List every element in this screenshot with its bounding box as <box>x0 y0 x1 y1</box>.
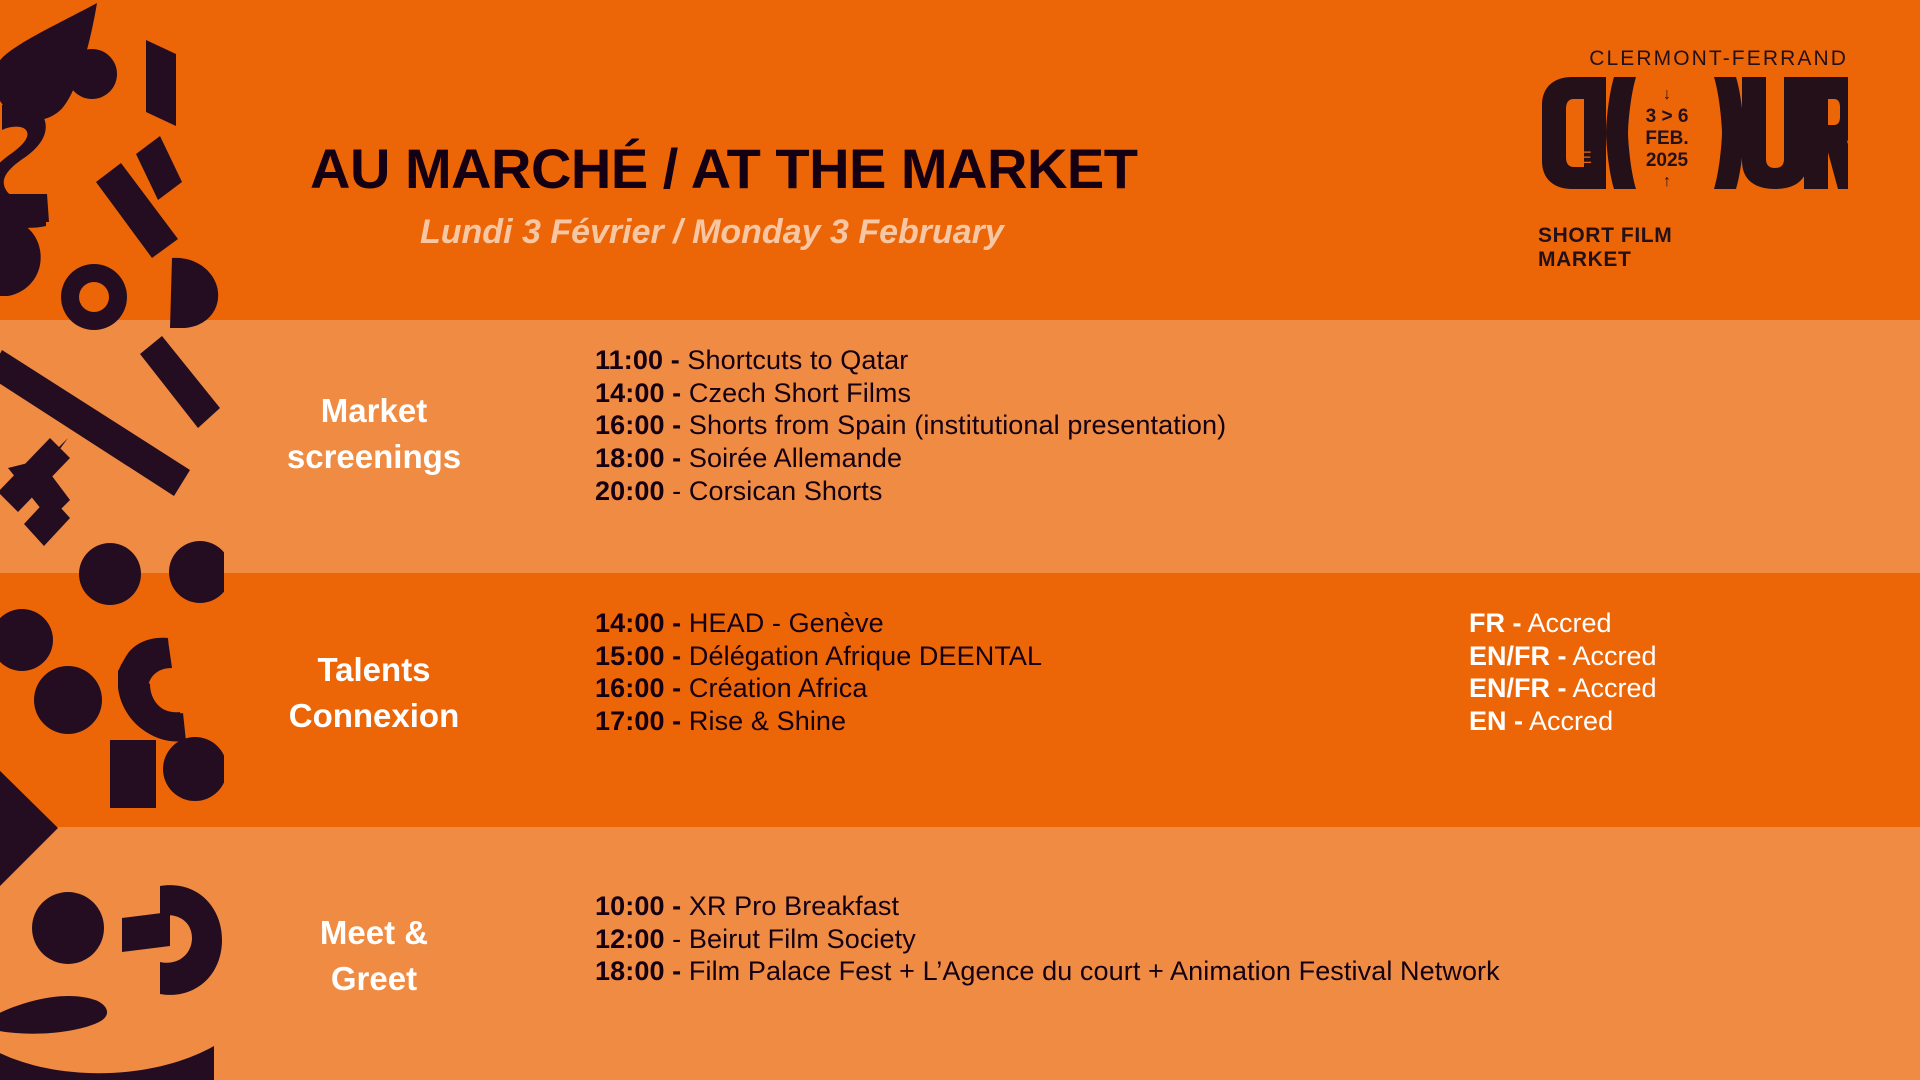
accreditation-row: EN/FR - Accred <box>1469 640 1657 673</box>
svg-text:FEB.: FEB. <box>1645 128 1688 149</box>
page-title: AU MARCHÉ / AT THE MARKET <box>310 140 1460 199</box>
item-separator: - <box>672 443 681 473</box>
accreditation-language: EN/FR <box>1469 673 1550 703</box>
item-separator: - <box>672 641 681 671</box>
schedule-item: 16:00 - Shorts from Spain (institutional… <box>595 409 1920 442</box>
item-description: XR Pro Breakfast <box>689 891 899 921</box>
section-label-line1: Meet & <box>224 910 524 956</box>
item-description: Czech Short Films <box>689 378 911 408</box>
accreditation-value: Accred <box>1573 641 1657 671</box>
item-description: Film Palace Fest + L’Agence du court + A… <box>689 956 1500 986</box>
item-separator: - <box>672 673 681 703</box>
item-separator: - <box>672 956 681 986</box>
accreditation-column: FR - Accred EN/FR - Accred EN/FR - Accre… <box>1469 607 1657 738</box>
accreditation-separator: - <box>1513 608 1522 638</box>
item-separator: - <box>672 706 681 736</box>
item-separator: - <box>672 476 681 506</box>
svg-text:3 > 6: 3 > 6 <box>1646 106 1689 127</box>
accreditation-separator: - <box>1558 673 1567 703</box>
item-time: 10:00 <box>595 891 665 921</box>
page-subtitle: Lundi 3 Février / Monday 3 February <box>310 213 1460 252</box>
item-separator: - <box>672 891 681 921</box>
accreditation-value: Accred <box>1528 608 1612 638</box>
section-items-talents-connexion: 14:00 - HEAD - Genève 15:00 - Délégation… <box>524 607 1920 738</box>
schedule-item: 11:00 - Shortcuts to Qatar <box>595 344 1920 377</box>
section-items-meet-and-greet: 10:00 - XR Pro Breakfast 12:00 - Beirut … <box>524 890 1920 988</box>
section-label-line1: Market <box>224 388 524 434</box>
section-market-screenings: Market screenings 11:00 - Shortcuts to Q… <box>224 344 1920 507</box>
section-label-line1: Talents <box>224 647 524 693</box>
section-meet-and-greet: Meet & Greet 10:00 - XR Pro Breakfast 12… <box>224 890 1920 1001</box>
item-separator: - <box>672 378 681 408</box>
schedule-item: 18:00 - Soirée Allemande <box>595 442 1920 475</box>
accreditation-language: EN <box>1469 706 1507 736</box>
schedule-item: 12:00 - Beirut Film Society <box>595 923 1920 956</box>
header-text-block: AU MARCHÉ / AT THE MARKET Lundi 3 Févrie… <box>310 140 1460 252</box>
section-label-line2: Connexion <box>224 693 524 739</box>
logo-city-label: CLERMONT-FERRAND <box>1538 48 1848 69</box>
item-separator: - <box>672 924 681 954</box>
item-time: 12:00 <box>595 924 665 954</box>
svg-text:2025: 2025 <box>1646 150 1689 171</box>
schedule-poster: AU MARCHÉ / AT THE MARKET Lundi 3 Févrie… <box>0 0 1920 1080</box>
accreditation-value: Accred <box>1529 706 1613 736</box>
item-time: 14:00 <box>595 608 665 638</box>
schedule-item: 18:00 - Film Palace Fest + L’Agence du c… <box>595 955 1920 988</box>
logo-footer-line2: MARKET <box>1538 248 1672 272</box>
accreditation-language: FR <box>1469 608 1505 638</box>
item-description: HEAD - Genève <box>689 608 884 638</box>
item-description: Soirée Allemande <box>689 443 902 473</box>
section-talents-connexion: Talents Connexion 14:00 - HEAD - Genève … <box>224 607 1920 738</box>
decorative-shapes-strip <box>0 0 224 1080</box>
accreditation-value: Accred <box>1573 673 1657 703</box>
schedule-item: 16:00 - Création Africa <box>595 672 1920 705</box>
item-time: 16:00 <box>595 673 665 703</box>
accreditation-row: EN/FR - Accred <box>1469 672 1657 705</box>
schedule-item: 10:00 - XR Pro Breakfast <box>595 890 1920 923</box>
section-label-market-screenings: Market screenings <box>224 344 524 479</box>
logo-wordmark: LE ↓ 3 > 6 FEB. 2025 ↑ <box>1538 75 1848 183</box>
item-time: 17:00 <box>595 706 665 736</box>
logo-footer-line1: SHORT FILM <box>1538 224 1672 248</box>
item-description: Rise & Shine <box>689 706 846 736</box>
item-time: 11:00 <box>595 345 663 375</box>
item-time: 15:00 <box>595 641 665 671</box>
item-description: Corsican Shorts <box>689 476 883 506</box>
item-description: Beirut Film Society <box>689 924 916 954</box>
schedule-item: 14:00 - HEAD - Genève <box>595 607 1920 640</box>
accreditation-row: EN - Accred <box>1469 705 1657 738</box>
item-description: Délégation Afrique DEENTAL <box>689 641 1042 671</box>
item-time: 18:00 <box>595 443 665 473</box>
festival-logo: CLERMONT-FERRAND LE <box>1538 48 1848 263</box>
item-separator: - <box>672 608 681 638</box>
item-time: 16:00 <box>595 410 665 440</box>
item-description: Shorts from Spain (institutional present… <box>689 410 1226 440</box>
schedule-item: 14:00 - Czech Short Films <box>595 377 1920 410</box>
logo-footer-label: SHORT FILM MARKET <box>1538 224 1672 271</box>
item-description: Shortcuts to Qatar <box>687 345 908 375</box>
accreditation-row: FR - Accred <box>1469 607 1657 640</box>
section-label-line2: screenings <box>224 434 524 480</box>
section-label-meet-and-greet: Meet & Greet <box>224 890 524 1001</box>
section-items-market-screenings: 11:00 - Shortcuts to Qatar 14:00 - Czech… <box>524 344 1920 507</box>
svg-text:↑: ↑ <box>1663 173 1671 190</box>
svg-text:LE: LE <box>1570 148 1593 167</box>
section-label-line2: Greet <box>224 956 524 1002</box>
item-separator: - <box>672 410 681 440</box>
schedule-item: 20:00 - Corsican Shorts <box>595 475 1920 508</box>
item-time: 14:00 <box>595 378 665 408</box>
accreditation-separator: - <box>1514 706 1523 736</box>
item-description: Création Africa <box>689 673 868 703</box>
section-label-talents-connexion: Talents Connexion <box>224 607 524 738</box>
accreditation-separator: - <box>1558 641 1567 671</box>
item-time: 18:00 <box>595 956 665 986</box>
accreditation-language: EN/FR <box>1469 641 1550 671</box>
svg-text:↓: ↓ <box>1663 86 1671 103</box>
item-separator: - <box>671 345 680 375</box>
schedule-item: 17:00 - Rise & Shine <box>595 705 1920 738</box>
schedule-item: 15:00 - Délégation Afrique DEENTAL <box>595 640 1920 673</box>
item-time: 20:00 <box>595 476 665 506</box>
